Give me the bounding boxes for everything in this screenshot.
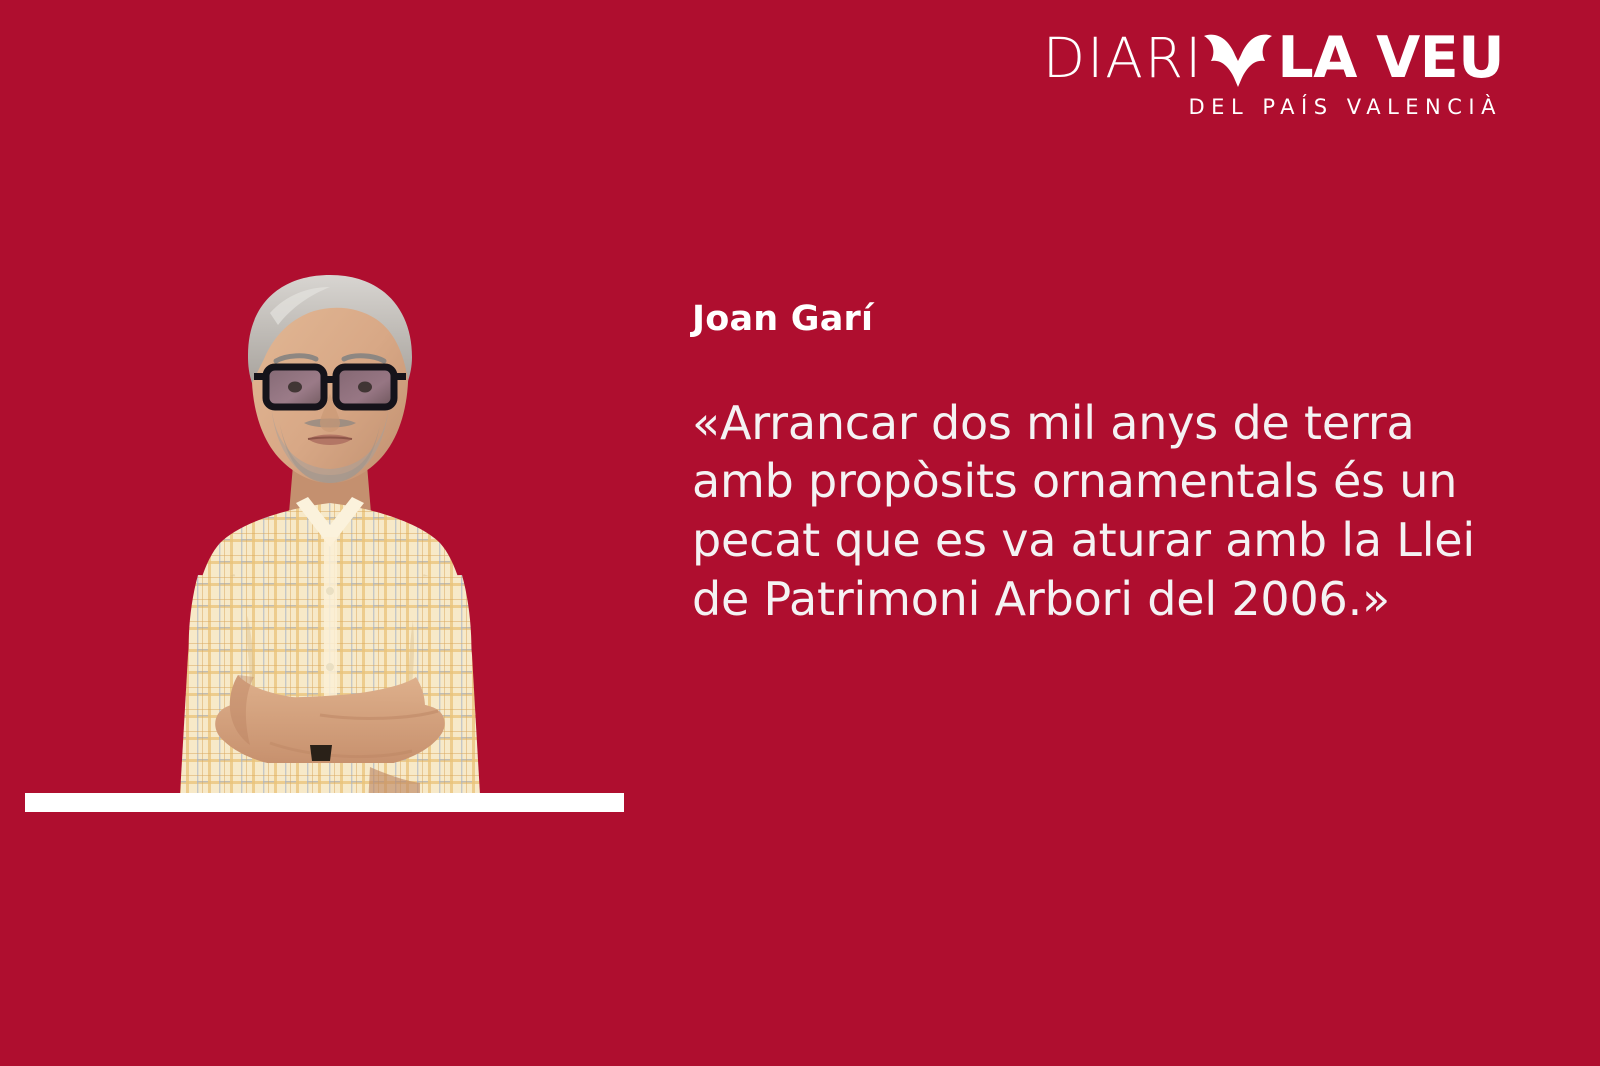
portrait-photo (120, 275, 540, 805)
logo-diari-text: DIARI (1043, 31, 1204, 86)
logo-tagline: DEL PAÍS VALENCIÀ (1004, 95, 1504, 119)
logo-laveu-text: LA VEU (1277, 30, 1504, 87)
quote-text: «Arrancar dos mil anys de terra amb prop… (692, 394, 1482, 630)
logo-wordmark: DIARI LA VEU (1004, 26, 1504, 88)
author-name: Joan Garí (692, 300, 1492, 339)
white-underline-bar (25, 793, 624, 812)
bat-bird-icon (1201, 30, 1275, 88)
brand-logo: DIARI LA VEU DEL PAÍS VALENCIÀ (1004, 26, 1504, 119)
quote-text-block: Joan Garí «Arrancar dos mil anys de terr… (692, 300, 1492, 629)
quote-card: DIARI LA VEU DEL PAÍS VALENCIÀ (0, 0, 1600, 1066)
